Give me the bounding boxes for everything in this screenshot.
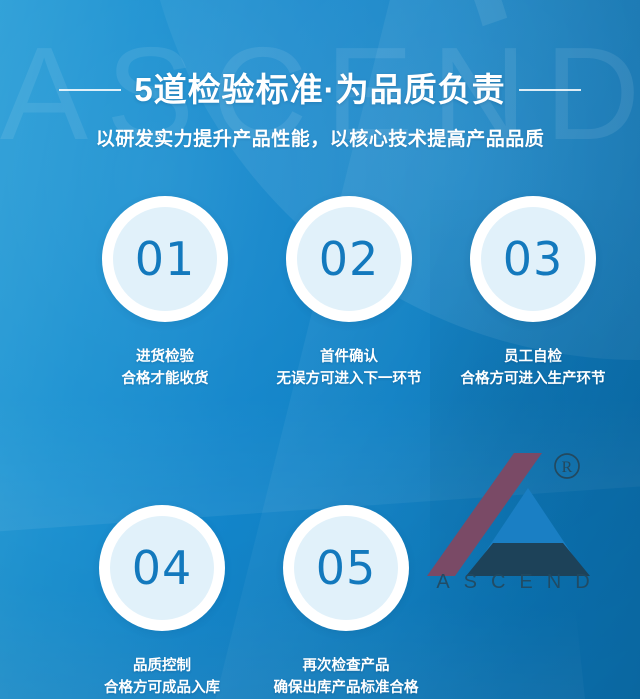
- step-circle-02: 02: [286, 196, 412, 322]
- title-rule-right: [519, 89, 581, 91]
- step-circle-inner-05: 05: [294, 516, 398, 620]
- step-circle-inner-03: 03: [481, 207, 585, 311]
- step-number-02: 02: [319, 236, 380, 282]
- step-caption-line2-03: 合格方可进入生产环节: [441, 368, 625, 390]
- registered-mark-letter: R: [562, 459, 573, 476]
- step-caption-line1-02: 首件确认: [320, 349, 378, 365]
- step-circle-inner-04: 04: [110, 516, 214, 620]
- step-item-04: 04 品质控制 合格方可成品入库: [70, 505, 254, 699]
- step-number-04: 04: [132, 545, 193, 591]
- step-caption-05: 再次检查产品 确保出库产品标准合格: [254, 655, 438, 699]
- step-number-05: 05: [316, 545, 377, 591]
- step-circle-04: 04: [99, 505, 225, 631]
- step-caption-01: 进货检验 合格才能收货: [73, 346, 257, 391]
- step-item-03: 03 员工自检 合格方可进入生产环节: [441, 196, 625, 391]
- step-circle-03: 03: [470, 196, 596, 322]
- step-caption-line2-01: 合格才能收货: [73, 368, 257, 390]
- step-caption-03: 员工自检 合格方可进入生产环节: [441, 346, 625, 391]
- brand-logo: R ASCEND: [415, 443, 615, 593]
- step-item-02: 02 首件确认 无误方可进入下一环节: [257, 196, 441, 391]
- step-number-01: 01: [135, 236, 196, 282]
- step-caption-line1-03: 员工自检: [504, 349, 562, 365]
- page-title: 5道检验标准·为品质负责: [134, 72, 505, 108]
- step-caption-02: 首件确认 无误方可进入下一环节: [257, 346, 441, 391]
- step-circle-05: 05: [283, 505, 409, 631]
- step-item-05: 05 再次检查产品 确保出库产品标准合格: [254, 505, 438, 699]
- step-caption-line1-01: 进货检验: [136, 349, 194, 365]
- step-caption-04: 品质控制 合格方可成品入库: [70, 655, 254, 699]
- page-subtitle: 以研发实力提升产品性能，以核心技术提高产品品质: [0, 124, 640, 151]
- step-caption-line1-04: 品质控制: [133, 658, 191, 674]
- header: 5道检验标准·为品质负责 以研发实力提升产品性能，以核心技术提高产品品质: [0, 72, 640, 151]
- step-caption-line2-02: 无误方可进入下一环节: [257, 368, 441, 390]
- step-caption-line1-05: 再次检查产品: [303, 658, 390, 674]
- logo-wordmark: ASCEND: [415, 571, 611, 594]
- promotional-poster: ASCEND 5道检验标准·为品质负责 以研发实力提升产品性能，以核心技术提高产…: [0, 0, 640, 699]
- step-item-01: 01 进货检验 合格才能收货: [73, 196, 257, 391]
- step-caption-line2-04: 合格方可成品入库: [70, 677, 254, 699]
- title-row: 5道检验标准·为品质负责: [0, 72, 640, 108]
- step-circle-01: 01: [102, 196, 228, 322]
- title-rule-left: [59, 89, 121, 91]
- steps-row-top: 01 进货检验 合格才能收货 02 首件确认 无误方可进入下一环节: [0, 196, 640, 391]
- step-circle-inner-02: 02: [297, 207, 401, 311]
- step-number-03: 03: [503, 236, 564, 282]
- step-caption-line2-05: 确保出库产品标准合格: [254, 677, 438, 699]
- step-circle-inner-01: 01: [113, 207, 217, 311]
